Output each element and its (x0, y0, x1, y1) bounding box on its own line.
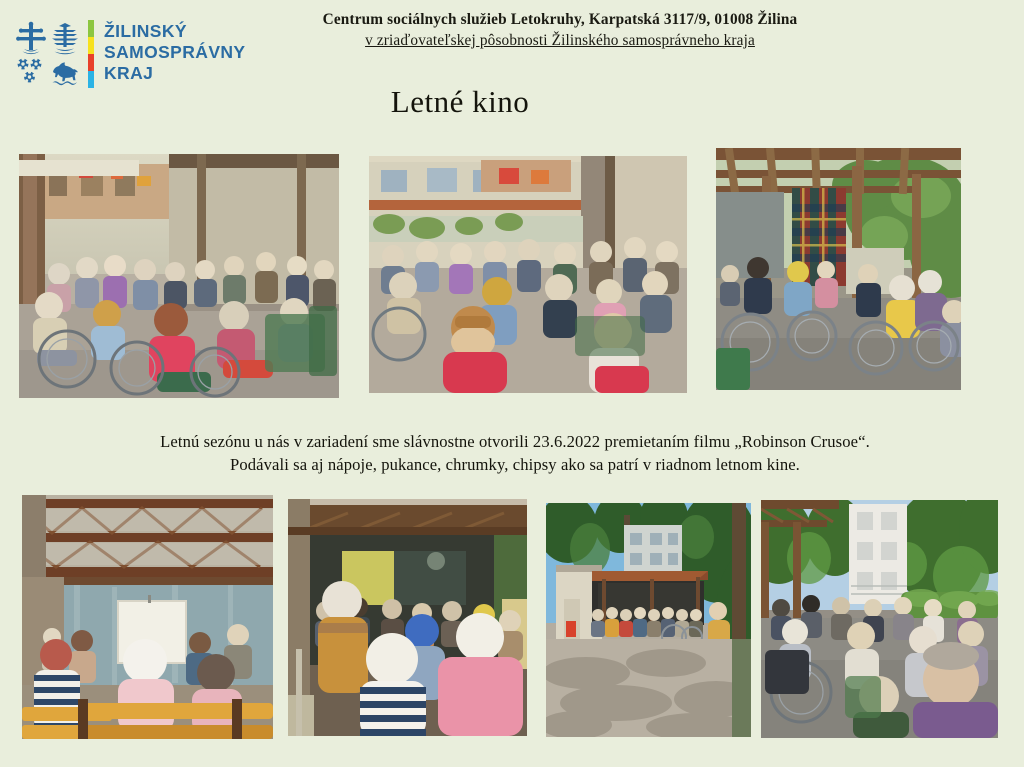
photo-7 (761, 500, 998, 738)
bear-icon (48, 56, 82, 88)
logo-color-bar (88, 20, 94, 88)
event-description: Letnú sezónu u nás v zariadení sme slávn… (60, 430, 970, 476)
photo-2 (369, 156, 687, 393)
slide: ŽILINSKÝ SAMOSPRÁVNY KRAJ Centrum sociál… (0, 0, 1024, 767)
photo-5 (288, 499, 527, 736)
photo-6 (546, 503, 751, 737)
organization-address: Centrum sociálnych služieb Letokruhy, Ka… (225, 10, 895, 30)
double-cross-icon (14, 20, 48, 56)
event-description-line-1: Letnú sezónu u nás v zariadení sme slávn… (60, 430, 970, 453)
logo-line-3: KRAJ (104, 63, 246, 84)
organization-header: Centrum sociálnych služieb Letokruhy, Ka… (225, 10, 895, 51)
logo-emblems (14, 20, 82, 88)
page-title: Letné kino (150, 82, 770, 122)
photo-1 (19, 154, 339, 398)
photo-3 (716, 148, 961, 390)
roses-icon (14, 56, 48, 88)
linden-tree-icon (48, 20, 82, 56)
organization-founder: v zriaďovateľskej pôsobnosti Žilinského … (225, 30, 895, 51)
event-description-line-2: Podávali sa aj nápoje, pukance, chrumky,… (60, 453, 970, 476)
photo-4 (22, 495, 273, 739)
